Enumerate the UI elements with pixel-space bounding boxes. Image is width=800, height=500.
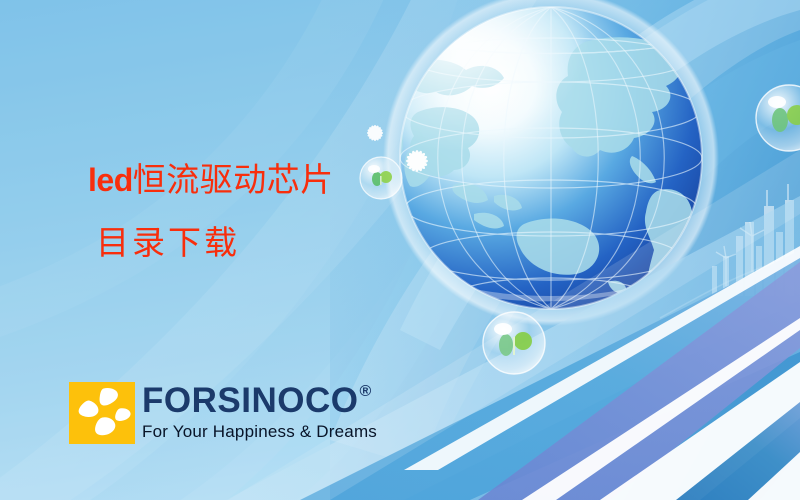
logo-company-name: FORSINOCO ® bbox=[142, 383, 377, 418]
four-petal-flower-icon bbox=[69, 382, 135, 444]
logo-mark bbox=[69, 382, 135, 444]
headline-line-2: 目录下载 bbox=[96, 226, 334, 259]
headline-line-1: led恒流驱动芯片 bbox=[88, 163, 334, 196]
logo-tagline: For Your Happiness & Dreams bbox=[142, 423, 377, 440]
headline-latin: led bbox=[88, 162, 133, 198]
registered-trademark-icon: ® bbox=[359, 384, 371, 400]
logo-wordmark: FORSINOCO ® For Your Happiness & Dreams bbox=[142, 382, 377, 440]
logo-company-text: FORSINOCO bbox=[142, 383, 358, 418]
headline-block: led恒流驱动芯片 目录下载 bbox=[88, 163, 334, 259]
headline-cjk: 恒流驱动芯片 bbox=[133, 160, 334, 199]
brand-logo[interactable]: FORSINOCO ® For Your Happiness & Dreams bbox=[69, 382, 377, 444]
bubble-icon bbox=[360, 157, 402, 199]
banner-canvas: led恒流驱动芯片 目录下载 FORSINOCO ® For Your Happ… bbox=[0, 0, 800, 500]
bubble-icon bbox=[483, 312, 545, 374]
